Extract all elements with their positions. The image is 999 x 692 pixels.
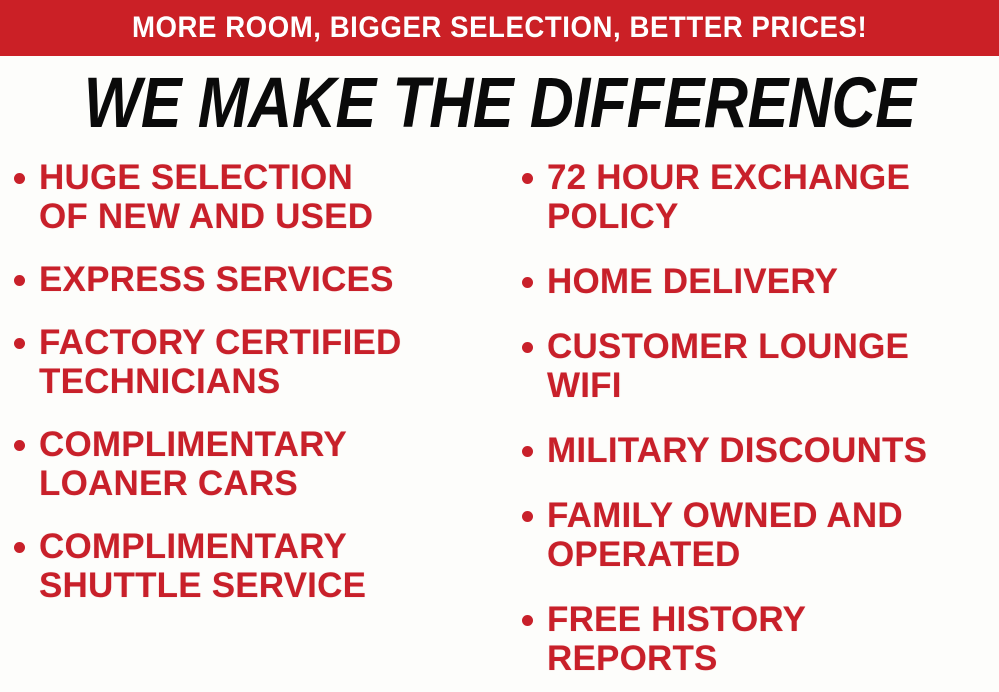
page-title: WE MAKE THE DIFFERENCE <box>84 68 916 139</box>
list-item-label: COMPLIMENTARY SHUTTLE SERVICE <box>39 527 366 605</box>
feature-column-right: 72 HOUR EXCHANGE POLICY HOME DELIVERY CU… <box>506 158 999 692</box>
list-item: FACTORY CERTIFIED TECHNICIANS <box>14 323 506 401</box>
bullet-dot-icon <box>522 173 533 184</box>
headline-container: WE MAKE THE DIFFERENCE <box>0 62 999 144</box>
list-item-label: CUSTOMER LOUNGE WIFI <box>547 327 909 405</box>
feature-columns: HUGE SELECTION OF NEW AND USED EXPRESS S… <box>0 158 999 678</box>
list-item-label: COMPLIMENTARY LOANER CARS <box>39 425 347 503</box>
bullet-dot-icon <box>522 615 533 626</box>
list-item-label: FAMILY OWNED AND OPERATED <box>547 496 903 574</box>
bullet-dot-icon <box>522 446 533 457</box>
list-item: FREE HISTORY REPORTS <box>522 600 999 678</box>
bullet-dot-icon <box>522 511 533 522</box>
list-item-label: FREE HISTORY REPORTS <box>547 600 806 678</box>
list-item: HOME DELIVERY <box>522 262 999 301</box>
list-item-label: FACTORY CERTIFIED TECHNICIANS <box>39 323 402 401</box>
feature-column-left: HUGE SELECTION OF NEW AND USED EXPRESS S… <box>0 158 506 629</box>
list-item-label: 72 HOUR EXCHANGE POLICY <box>547 158 910 236</box>
top-promo-strip: MORE ROOM, BIGGER SELECTION, BETTER PRIC… <box>0 0 999 56</box>
list-item-label: HUGE SELECTION OF NEW AND USED <box>39 158 373 236</box>
bullet-dot-icon <box>14 173 25 184</box>
list-item: COMPLIMENTARY SHUTTLE SERVICE <box>14 527 506 605</box>
advertisement-banner: MORE ROOM, BIGGER SELECTION, BETTER PRIC… <box>0 0 999 692</box>
bullet-dot-icon <box>522 277 533 288</box>
bullet-dot-icon <box>14 440 25 451</box>
list-item-label: EXPRESS SERVICES <box>39 260 394 299</box>
list-item: FAMILY OWNED AND OPERATED <box>522 496 999 574</box>
list-item: COMPLIMENTARY LOANER CARS <box>14 425 506 503</box>
list-item: CUSTOMER LOUNGE WIFI <box>522 327 999 405</box>
list-item-label: HOME DELIVERY <box>547 262 838 301</box>
bullet-dot-icon <box>14 338 25 349</box>
bullet-dot-icon <box>522 342 533 353</box>
list-item: MILITARY DISCOUNTS <box>522 431 999 470</box>
bullet-dot-icon <box>14 275 25 286</box>
promo-strip-text: MORE ROOM, BIGGER SELECTION, BETTER PRIC… <box>132 13 867 43</box>
list-item-label: MILITARY DISCOUNTS <box>547 431 927 470</box>
list-item: EXPRESS SERVICES <box>14 260 506 299</box>
list-item: 72 HOUR EXCHANGE POLICY <box>522 158 999 236</box>
list-item: HUGE SELECTION OF NEW AND USED <box>14 158 506 236</box>
bullet-dot-icon <box>14 542 25 553</box>
